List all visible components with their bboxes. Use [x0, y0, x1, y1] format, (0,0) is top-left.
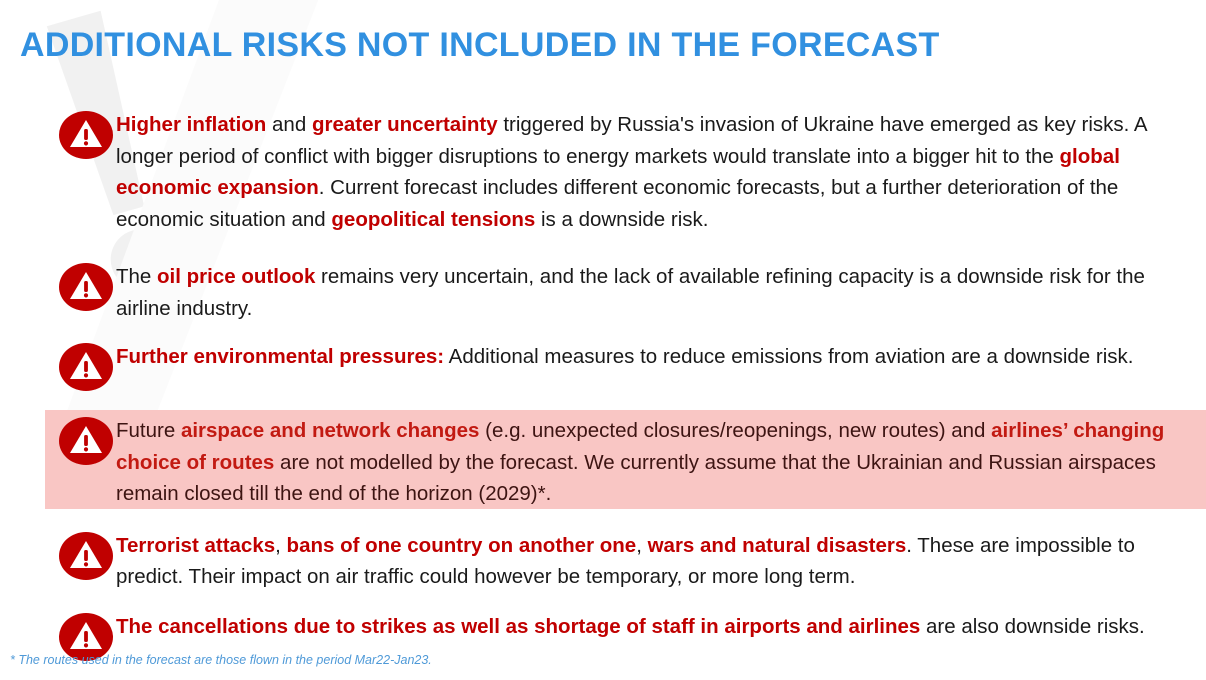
list-item-text: Higher inflation and greater uncertainty…	[116, 108, 1198, 235]
list-item: Terrorist attacks, bans of one country o…	[0, 529, 1206, 593]
emphasis-text: airspace and network changes	[181, 419, 480, 442]
body-text: and	[266, 113, 312, 136]
emphasis-text: geopolitical tensions	[331, 208, 535, 231]
page-title: ADDITIONAL RISKS NOT INCLUDED IN THE FOR…	[20, 26, 940, 65]
list-item: The oil price outlook remains very uncer…	[0, 260, 1206, 324]
list-item: Higher inflation and greater uncertainty…	[0, 108, 1206, 235]
body-text: The	[116, 265, 157, 288]
emphasis-text: oil price outlook	[157, 265, 315, 288]
body-text: Future	[116, 419, 181, 442]
list-item-text: Future airspace and network changes (e.g…	[116, 414, 1198, 510]
body-text: is a downside risk.	[535, 208, 708, 231]
emphasis-text: Further environmental pressures:	[116, 345, 444, 368]
emphasis-text: The cancellations due to strikes as well…	[116, 615, 920, 638]
risk-bullet-list: Higher inflation and greater uncertainty…	[0, 108, 1206, 662]
footnote: * The routes used in the forecast are th…	[10, 653, 432, 667]
emphasis-text: greater uncertainty	[312, 113, 498, 136]
warning-triangle-icon	[58, 416, 116, 466]
body-text: (e.g. unexpected closures/reopenings, ne…	[479, 419, 991, 442]
list-item: Further environmental pressures: Additio…	[0, 340, 1206, 392]
body-text: ,	[636, 534, 647, 557]
list-item-text: The oil price outlook remains very uncer…	[116, 260, 1198, 324]
emphasis-text: wars and natural disasters	[648, 534, 907, 557]
emphasis-text: Terrorist attacks	[116, 534, 275, 557]
list-item-text: Further environmental pressures: Additio…	[116, 340, 1198, 373]
list-item-text: The cancellations due to strikes as well…	[116, 610, 1198, 643]
body-text: are also downside risks.	[920, 615, 1144, 638]
warning-triangle-icon	[58, 262, 116, 312]
warning-triangle-icon	[58, 342, 116, 392]
emphasis-text: bans of one country on another one	[287, 534, 637, 557]
list-item-highlighted: Future airspace and network changes (e.g…	[0, 414, 1206, 510]
warning-triangle-icon	[58, 110, 116, 160]
warning-triangle-icon	[58, 531, 116, 581]
list-item-text: Terrorist attacks, bans of one country o…	[116, 529, 1198, 593]
emphasis-text: Higher inflation	[116, 113, 266, 136]
body-text: Additional measures to reduce emissions …	[444, 345, 1133, 368]
body-text: ,	[275, 534, 286, 557]
